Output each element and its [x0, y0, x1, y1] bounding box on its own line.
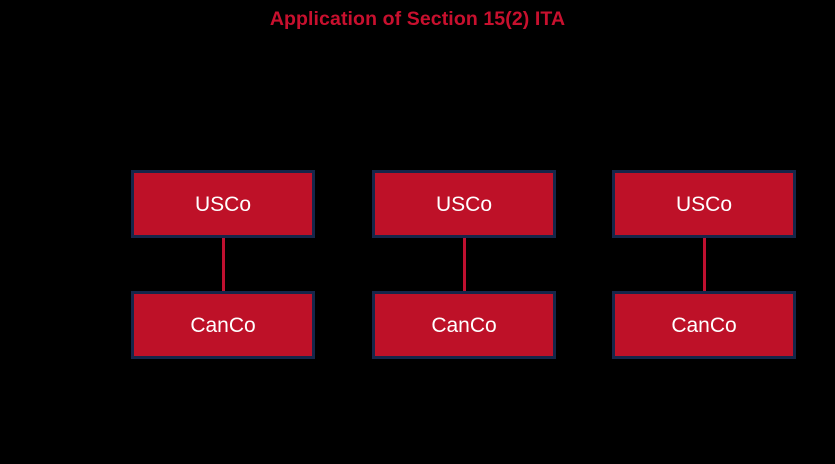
diagram-canvas: Application of Section 15(2) ITA USCo Ca… — [0, 0, 835, 464]
entity-group-1: USCo CanCo — [131, 170, 315, 358]
entity-label-usco-1: USCo — [195, 194, 251, 215]
entity-box-usco-1[interactable]: USCo — [131, 170, 315, 238]
entity-label-canco-3: CanCo — [671, 315, 736, 336]
entity-box-usco-2[interactable]: USCo — [372, 170, 556, 238]
entity-box-usco-3[interactable]: USCo — [612, 170, 796, 238]
ownership-connector-2 — [463, 238, 466, 291]
page-title: Application of Section 15(2) ITA — [0, 8, 835, 31]
entity-box-canco-3[interactable]: CanCo — [612, 291, 796, 359]
ownership-connector-1 — [222, 238, 225, 291]
entity-box-canco-2[interactable]: CanCo — [372, 291, 556, 359]
entity-box-canco-1[interactable]: CanCo — [131, 291, 315, 359]
entity-label-canco-2: CanCo — [431, 315, 496, 336]
entity-label-usco-2: USCo — [436, 194, 492, 215]
entity-group-3: USCo CanCo — [612, 170, 796, 358]
ownership-connector-3 — [703, 238, 706, 291]
entity-label-canco-1: CanCo — [190, 315, 255, 336]
entity-label-usco-3: USCo — [676, 194, 732, 215]
entity-group-2: USCo CanCo — [372, 170, 556, 358]
